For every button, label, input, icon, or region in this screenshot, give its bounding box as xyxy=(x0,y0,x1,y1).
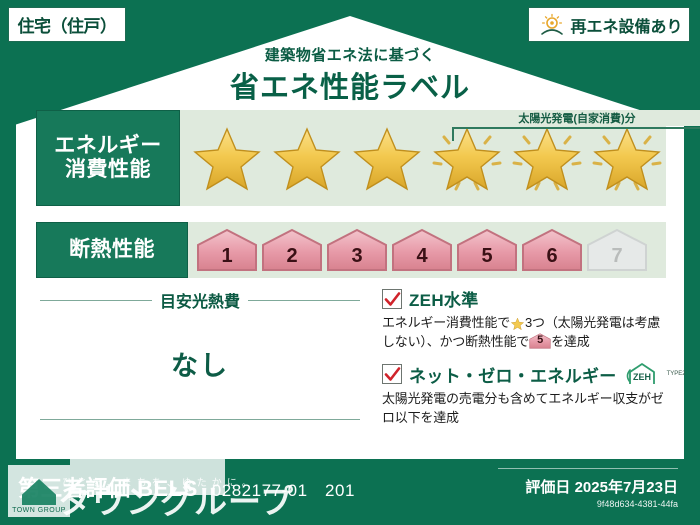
insulation-level-badge: 1 xyxy=(196,228,258,272)
badge-renewable-equipment: 再エネ設備あり xyxy=(528,7,690,42)
energy-label-line2: 消費性能 xyxy=(65,158,151,182)
insulation-level-badge: 5 xyxy=(456,228,518,272)
insulation-level-number: 5 xyxy=(529,333,551,349)
star-icon xyxy=(348,123,426,193)
solar-bracket-caption: 太陽光発電(自家消費)分 xyxy=(442,110,700,126)
zeh-criterion-title: ZEH水準 xyxy=(409,286,479,311)
utility-cost-block: 目安光熱費 なし xyxy=(40,288,360,420)
zeh-criterion-item: ネット・ゼロ・エネルギー ZEH TYPE2太陽光発電の売電分も含めてエネルギー… xyxy=(382,362,672,428)
insulation-level-number: 7 xyxy=(611,245,622,272)
star-icon xyxy=(268,123,346,193)
insulation-level-badge: 5 xyxy=(529,333,551,349)
insulation-level-number: 4 xyxy=(416,245,427,272)
insulation-level-badge: 3 xyxy=(326,228,388,272)
footer-bels-info: 第三者評価 BELS 0282177-01 201 xyxy=(18,471,355,503)
zeh-criterion-title: ネット・ゼロ・エネルギー xyxy=(409,362,617,387)
insulation-level-number: 3 xyxy=(351,245,362,272)
insulation-level-badge: 4 xyxy=(391,228,453,272)
utility-cost-heading-text: 目安光熱費 xyxy=(160,288,240,312)
footer-evaluation-info: 評価日 2025年7月23日 9f48d634-4381-44fa xyxy=(525,476,678,509)
energy-consumption-row: エネルギー 消費性能 xyxy=(36,110,666,206)
insulation-label: 断熱性能 xyxy=(36,222,188,278)
zeh-criterion-header: ネット・ゼロ・エネルギー ZEH TYPE2 xyxy=(382,362,672,387)
check-icon[interactable] xyxy=(382,289,402,309)
check-icon[interactable] xyxy=(382,364,402,384)
zeh-criterion-description: エネルギー消費性能で3つ（太陽光発電は考慮しない）、かつ断熱性能で 5を達成 xyxy=(382,314,672,352)
heading-rule-right xyxy=(248,300,360,301)
insulation-label-text: 断熱性能 xyxy=(69,238,155,262)
insulation-level-number: 6 xyxy=(546,245,557,272)
zeh-criteria-block: ZEH水準エネルギー消費性能で3つ（太陽光発電は考慮しない）、かつ断熱性能で 5… xyxy=(382,286,672,437)
insulation-level-badge: 7 xyxy=(586,228,648,272)
badge-dwelling-label: 住宅（住戸） xyxy=(18,12,117,37)
page-title: 省エネ性能ラベル xyxy=(0,64,700,106)
solar-bracket xyxy=(452,127,700,141)
badge-renewable-label: 再エネ設備あり xyxy=(570,13,682,37)
energy-stars-area: 太陽光発電(自家消費)分 xyxy=(180,110,666,206)
zeh-criterion-description: 太陽光発電の売電分も含めてエネルギー収支がゼロ以下を達成 xyxy=(382,390,672,428)
sun-icon xyxy=(539,13,565,37)
star-icon xyxy=(188,123,266,193)
insulation-level-number: 2 xyxy=(286,245,297,272)
insulation-levels-area: 1 2 3 4 5 6 7 xyxy=(188,222,666,278)
star-icon xyxy=(510,317,525,332)
zeh-logo-note: TYPE2 xyxy=(667,371,686,377)
zeh-criterion-header: ZEH水準 xyxy=(382,286,672,311)
utility-cost-value: なし xyxy=(40,344,360,383)
footer-strip: 第三者評価 BELS 0282177-01 201 評価日 2025年7月23日… xyxy=(0,459,700,525)
insulation-level-number: 5 xyxy=(481,245,492,272)
energy-consumption-label: エネルギー 消費性能 xyxy=(36,110,180,206)
heading-rule-left xyxy=(40,300,152,301)
insulation-level-number: 1 xyxy=(221,245,232,272)
evaluation-date-label: 評価日 xyxy=(525,479,570,496)
zeh-house-logo-icon: ZEH xyxy=(624,362,660,386)
evaluation-hash: 9f48d634-4381-44fa xyxy=(525,499,678,509)
insulation-level-badge: 6 xyxy=(521,228,583,272)
zeh-criterion-item: ZEH水準エネルギー消費性能で3つ（太陽光発電は考慮しない）、かつ断熱性能で 5… xyxy=(382,286,672,352)
energy-label-line1: エネルギー xyxy=(54,134,162,158)
utility-cost-bottom-rule xyxy=(40,419,360,420)
insulation-row: 断熱性能 1 2 3 4 5 6 xyxy=(36,222,666,278)
badge-dwelling-type: 住宅（住戸） xyxy=(8,7,126,42)
evaluation-date: 評価日 2025年7月23日 xyxy=(525,476,678,497)
energy-performance-label: 住宅（住戸） 再エネ設備あり 建築物省エネ法に基づく 省エネ性能ラベル xyxy=(0,0,700,525)
bels-number: 0282177-01 201 xyxy=(212,476,355,501)
label-subtitle: 建築物省エネ法に基づく xyxy=(0,44,700,65)
bels-label: 第三者評価 BELS xyxy=(18,471,198,503)
evaluation-date-value: 2025年7月23日 xyxy=(575,479,678,496)
insulation-level-badge: 2 xyxy=(261,228,323,272)
footer-separator xyxy=(498,468,678,469)
svg-text:ZEH: ZEH xyxy=(633,372,651,382)
utility-cost-heading: 目安光熱費 xyxy=(40,288,360,312)
